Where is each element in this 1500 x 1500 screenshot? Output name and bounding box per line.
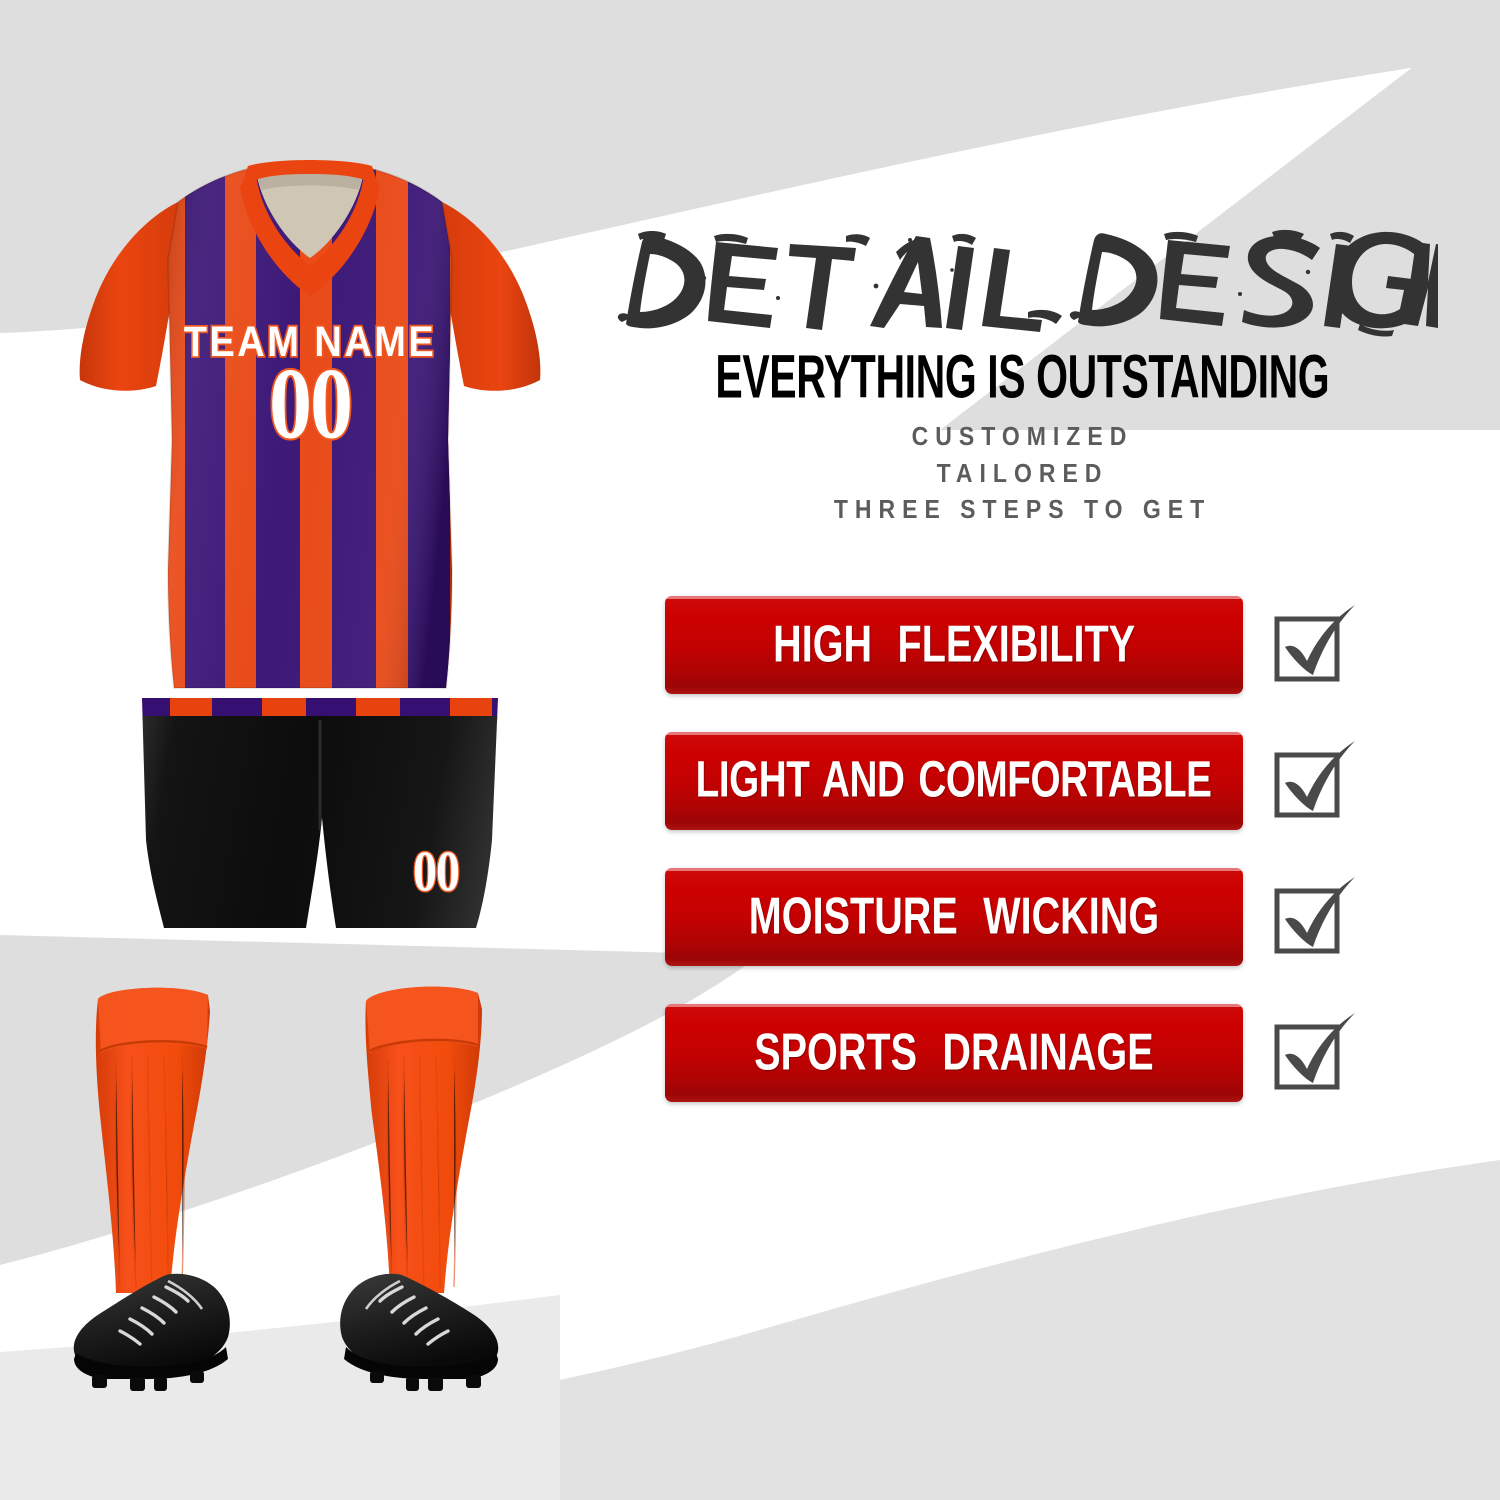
feature-label: SPORTS DRAINAGE <box>754 1023 1153 1082</box>
feature-label: MOISTURE WICKING <box>749 887 1159 946</box>
feature-label: LIGHT AND COMFORTABLE <box>696 752 1212 810</box>
check-icon <box>1285 741 1355 811</box>
shorts-mockup: 00 00 <box>120 690 520 940</box>
leg-left <box>74 988 230 1391</box>
tagline-1: TAILORED <box>834 455 1211 492</box>
feature-bar-high-flexibility[interactable]: HIGH FLEXIBILITY <box>665 596 1243 694</box>
product-showcase: TEAM NAME 00 TEAM NAME 00 <box>0 0 620 1500</box>
feature-bar-sports-drainage[interactable]: SPORTS DRAINAGE <box>665 1004 1243 1102</box>
feature-bar-light-and-comfortable[interactable]: LIGHT AND COMFORTABLE <box>665 732 1243 830</box>
leg-right <box>340 987 498 1391</box>
checkbox-sports-drainage[interactable] <box>1265 1007 1357 1099</box>
checkbox-high-flexibility[interactable] <box>1265 599 1357 691</box>
feature-row: MOISTURE WICKING <box>665 868 1380 966</box>
checkbox-moisture-wicking[interactable] <box>1265 871 1357 963</box>
page-title <box>608 228 1438 338</box>
jersey-mockup: TEAM NAME 00 TEAM NAME 00 <box>60 140 560 720</box>
tagline-group: CUSTOMIZED TAILORED THREE STEPS TO GET <box>834 418 1211 528</box>
feature-bar-moisture-wicking[interactable]: MOISTURE WICKING <box>665 868 1243 966</box>
tagline-2: THREE STEPS TO GET <box>834 491 1211 528</box>
feature-label: HIGH FLEXIBILITY <box>773 615 1135 674</box>
check-icon <box>1285 1013 1355 1083</box>
jersey-sleeve-right <box>442 202 540 391</box>
page-subtitle: EVERYTHING IS OUTSTANDING <box>716 347 1330 408</box>
feature-row: LIGHT AND COMFORTABLE <box>665 732 1380 830</box>
detail-design-panel: DETAIL DESIGN EVERYTHING IS OUTSTANDING … <box>545 0 1500 1500</box>
jersey-sleeve-left <box>80 202 178 391</box>
socks-and-cleats-mockup <box>70 975 540 1445</box>
tagline-0: CUSTOMIZED <box>834 418 1211 455</box>
check-icon <box>1285 877 1355 947</box>
check-icon <box>1285 605 1355 675</box>
shorts-number: 00 <box>413 840 459 903</box>
jersey-number: 00 <box>269 348 351 460</box>
cleat-left <box>74 1274 230 1373</box>
feature-row: SPORTS DRAINAGE <box>665 1004 1380 1102</box>
checkbox-light-and-comfortable[interactable] <box>1265 735 1357 827</box>
feature-list: HIGH FLEXIBILITY LIGHT AND COMFORTABLE <box>665 596 1380 1102</box>
feature-row: HIGH FLEXIBILITY <box>665 596 1380 694</box>
